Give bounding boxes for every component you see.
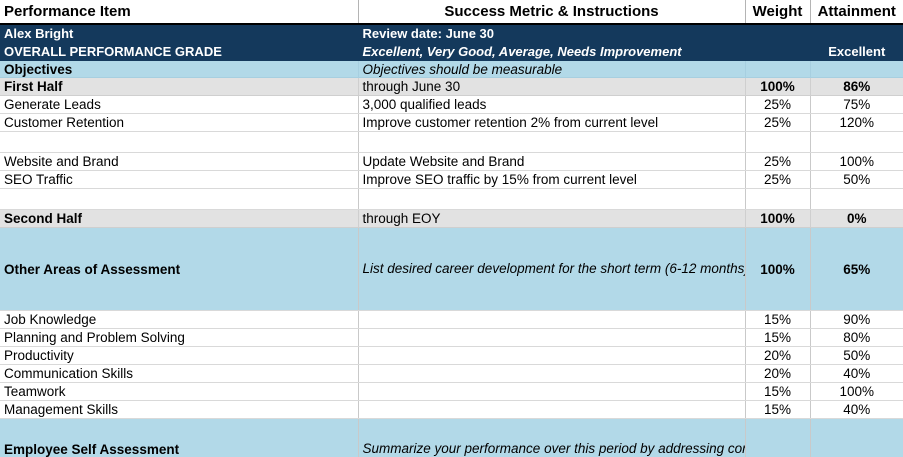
self-assessment-row: Employee Self Assessment Summarize your … <box>0 419 903 457</box>
objective-metric: 3,000 qualified leads <box>358 96 745 114</box>
other-areas-instructions: List desired career development for the … <box>358 228 745 311</box>
column-header-attainment: Attainment <box>810 0 903 24</box>
first-half-metric: through June 30 <box>358 78 745 96</box>
objective-weight <box>745 189 810 210</box>
objective-weight <box>745 132 810 153</box>
self-assessment-weight-blank <box>745 419 810 457</box>
competency-item: Management Skills <box>0 401 358 419</box>
objective-metric <box>358 132 745 153</box>
objective-attainment <box>810 189 903 210</box>
competency-attainment: 80% <box>810 329 903 347</box>
objective-weight: 25% <box>745 171 810 189</box>
competency-attainment: 100% <box>810 383 903 401</box>
second-half-label: Second Half <box>0 210 358 228</box>
objective-item: Website and Brand <box>0 153 358 171</box>
competency-weight: 20% <box>745 347 810 365</box>
competency-attainment: 40% <box>810 365 903 383</box>
competency-metric <box>358 329 745 347</box>
column-header-weight: Weight <box>745 0 810 24</box>
objective-item <box>0 189 358 210</box>
competency-item: Job Knowledge <box>0 311 358 329</box>
objective-weight: 25% <box>745 114 810 132</box>
objective-item: SEO Traffic <box>0 171 358 189</box>
competency-metric <box>358 383 745 401</box>
performance-review-table: Performance Item Success Metric & Instru… <box>0 0 903 457</box>
banner-weight-blank <box>745 24 810 43</box>
competency-item: Teamwork <box>0 383 358 401</box>
objectives-weight-blank <box>745 61 810 78</box>
objective-attainment: 100% <box>810 153 903 171</box>
second-half-weight: 100% <box>745 210 810 228</box>
objective-attainment: 75% <box>810 96 903 114</box>
first-half-attainment: 86% <box>810 78 903 96</box>
table-row-spacer <box>0 132 903 153</box>
other-areas-row: Other Areas of Assessment List desired c… <box>0 228 903 311</box>
objectives-attainment-blank <box>810 61 903 78</box>
objective-attainment: 120% <box>810 114 903 132</box>
first-half-summary-row: First Half through June 30 100% 86% <box>0 78 903 96</box>
table-row: Productivity 20% 50% <box>0 347 903 365</box>
employee-name: Alex Bright <box>0 24 358 43</box>
competency-metric <box>358 401 745 419</box>
review-date: Review date: June 30 <box>358 24 745 43</box>
objectives-note: Objectives should be measurable <box>358 61 745 78</box>
first-half-label: First Half <box>0 78 358 96</box>
other-areas-label: Other Areas of Assessment <box>0 228 358 311</box>
overall-grade-label: OVERALL PERFORMANCE GRADE <box>0 43 358 61</box>
banner-attainment-blank <box>810 24 903 43</box>
second-half-metric: through EOY <box>358 210 745 228</box>
objectives-section-row: Objectives Objectives should be measurab… <box>0 61 903 78</box>
table-row: Communication Skills 20% 40% <box>0 365 903 383</box>
second-half-summary-row: Second Half through EOY 100% 0% <box>0 210 903 228</box>
competency-weight: 15% <box>745 401 810 419</box>
competency-item: Productivity <box>0 347 358 365</box>
competency-attainment: 40% <box>810 401 903 419</box>
employee-banner-row: Alex Bright Review date: June 30 <box>0 24 903 43</box>
first-half-weight: 100% <box>745 78 810 96</box>
competency-metric <box>358 311 745 329</box>
competency-weight: 15% <box>745 329 810 347</box>
table-row: Teamwork 15% 100% <box>0 383 903 401</box>
overall-grade-row: OVERALL PERFORMANCE GRADE Excellent, Ver… <box>0 43 903 61</box>
table-row: Generate Leads 3,000 qualified leads 25%… <box>0 96 903 114</box>
competency-weight: 15% <box>745 383 810 401</box>
objectives-label: Objectives <box>0 61 358 78</box>
competency-attainment: 90% <box>810 311 903 329</box>
objective-item <box>0 132 358 153</box>
table-header-row: Performance Item Success Metric & Instru… <box>0 0 903 24</box>
second-half-attainment: 0% <box>810 210 903 228</box>
competency-weight: 15% <box>745 311 810 329</box>
overall-grade-value: Excellent <box>810 43 903 61</box>
table-row: Job Knowledge 15% 90% <box>0 311 903 329</box>
table-row-spacer <box>0 189 903 210</box>
self-assessment-label: Employee Self Assessment <box>0 419 358 457</box>
objective-metric <box>358 189 745 210</box>
table-row: SEO Traffic Improve SEO traffic by 15% f… <box>0 171 903 189</box>
table-row: Planning and Problem Solving 15% 80% <box>0 329 903 347</box>
objective-weight: 25% <box>745 153 810 171</box>
column-header-performance-item: Performance Item <box>0 0 358 24</box>
self-assessment-instructions: Summarize your performance over this per… <box>358 419 745 457</box>
competency-item: Planning and Problem Solving <box>0 329 358 347</box>
self-assessment-attainment-blank <box>810 419 903 457</box>
competency-metric <box>358 347 745 365</box>
column-header-success-metric: Success Metric & Instructions <box>358 0 745 24</box>
table-row: Customer Retention Improve customer rete… <box>0 114 903 132</box>
table-row: Website and Brand Update Website and Bra… <box>0 153 903 171</box>
other-areas-weight: 100% <box>745 228 810 311</box>
objective-weight: 25% <box>745 96 810 114</box>
other-areas-attainment: 65% <box>810 228 903 311</box>
objective-attainment: 50% <box>810 171 903 189</box>
objective-attainment <box>810 132 903 153</box>
performance-review-sheet: Performance Item Success Metric & Instru… <box>0 0 903 457</box>
objective-metric: Improve customer retention 2% from curre… <box>358 114 745 132</box>
table-row: Management Skills 15% 40% <box>0 401 903 419</box>
objective-item: Customer Retention <box>0 114 358 132</box>
overall-weight-blank <box>745 43 810 61</box>
grade-scale-text: Excellent, Very Good, Average, Needs Imp… <box>358 43 745 61</box>
competency-metric <box>358 365 745 383</box>
objective-metric: Improve SEO traffic by 15% from current … <box>358 171 745 189</box>
objective-item: Generate Leads <box>0 96 358 114</box>
competency-weight: 20% <box>745 365 810 383</box>
objective-metric: Update Website and Brand <box>358 153 745 171</box>
competency-item: Communication Skills <box>0 365 358 383</box>
competency-attainment: 50% <box>810 347 903 365</box>
